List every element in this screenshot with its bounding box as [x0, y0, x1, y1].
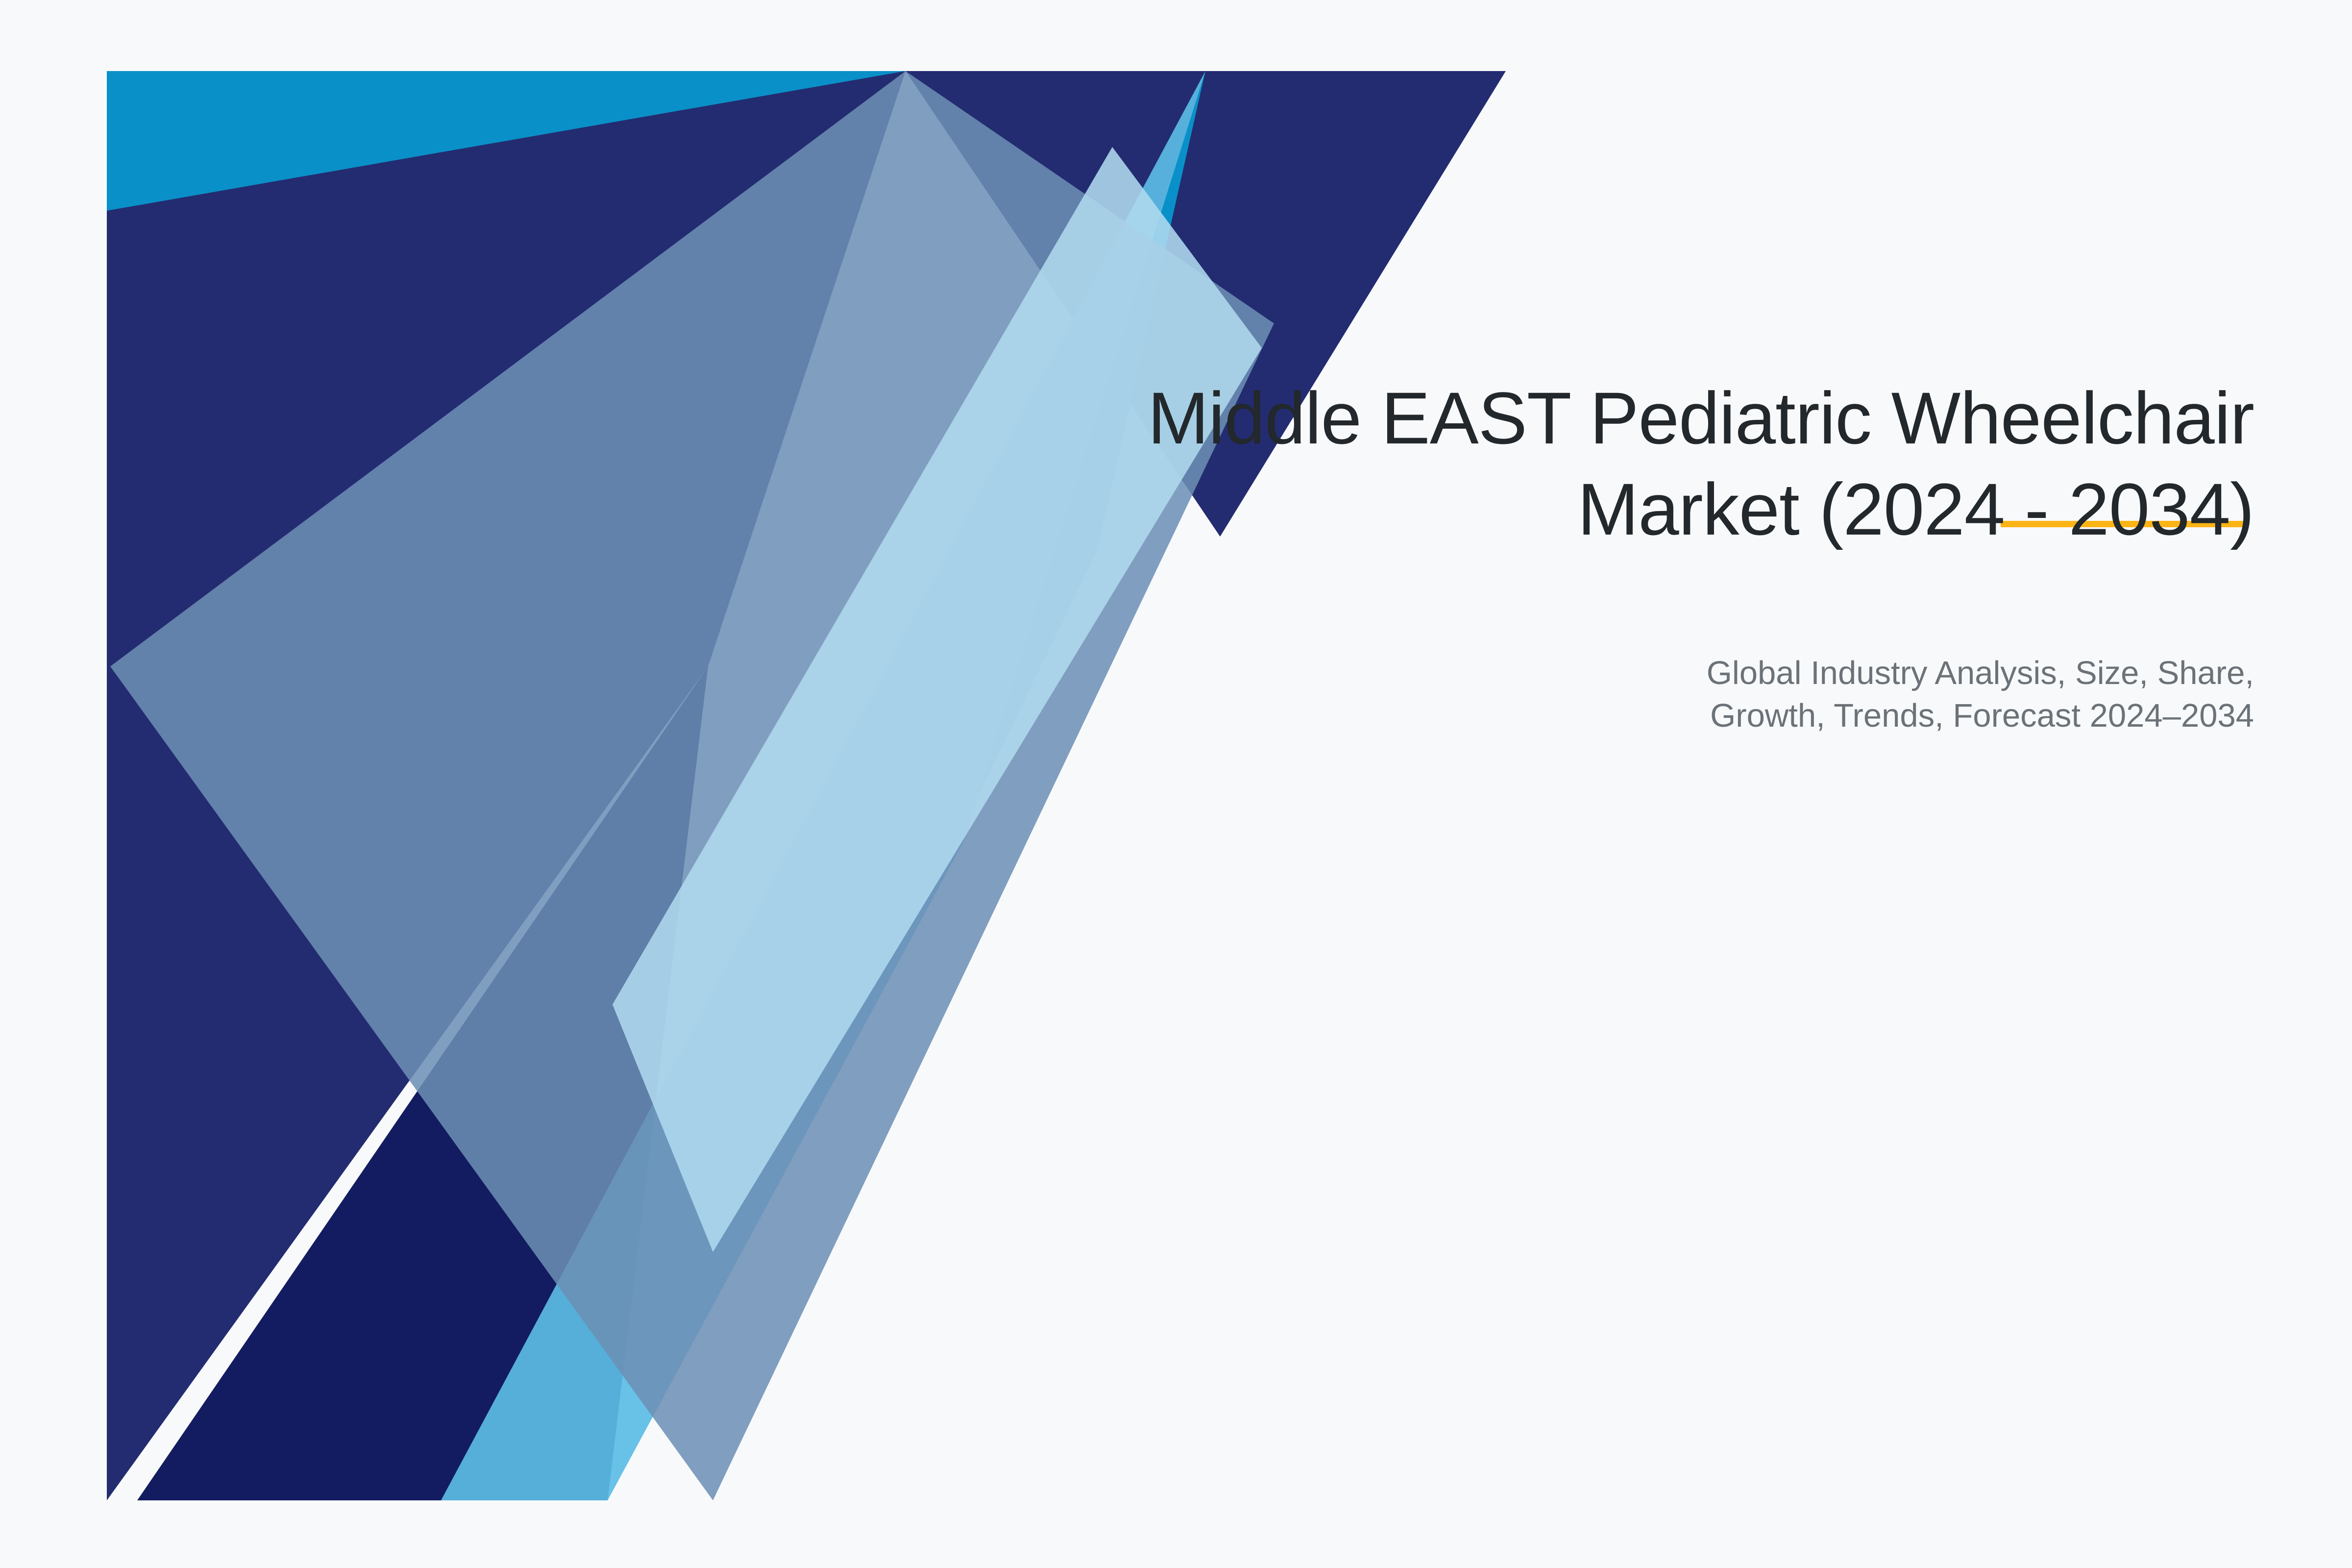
report-cover: Middle EAST Pediatric Wheelchair Market …	[0, 0, 2352, 1568]
page-title: Middle EAST Pediatric Wheelchair Market …	[970, 372, 2254, 555]
abstract-geometric-banner	[0, 0, 2352, 1568]
page-subtitle: Global Industry Analysis, Size, Share, G…	[970, 652, 2254, 737]
cover-text-block: Middle EAST Pediatric Wheelchair Market …	[970, 372, 2254, 555]
title-wrap: Middle EAST Pediatric Wheelchair Market …	[970, 372, 2254, 555]
